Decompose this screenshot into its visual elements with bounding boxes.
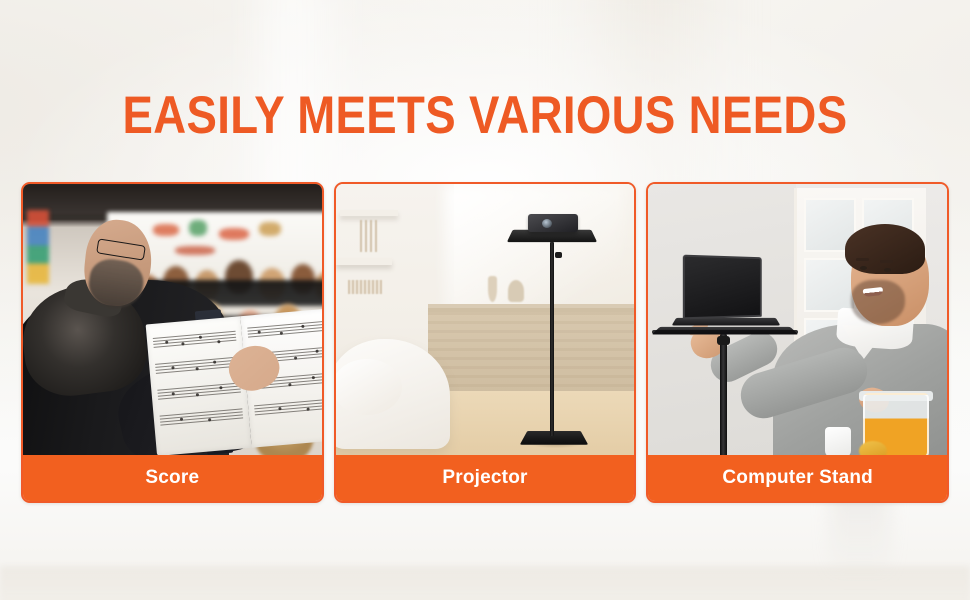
feature-card-list: Score [21, 182, 949, 503]
projector-scene [336, 184, 635, 455]
wall-shelf-upper [340, 210, 398, 216]
wall-shelf-lower [336, 258, 392, 265]
counter-object [508, 280, 524, 302]
computer-stand-scene [648, 184, 947, 455]
door-pane [804, 258, 856, 312]
stand-pole [550, 242, 554, 436]
stand-pole [720, 334, 727, 455]
counter-vase [488, 276, 497, 302]
whiteboard-mark-3 [219, 228, 249, 240]
man-eye [884, 268, 891, 272]
stand-adjust-knob [555, 252, 562, 258]
laptop-screen [683, 255, 762, 320]
whiteboard-mark-4 [259, 222, 281, 236]
card-caption-computer-stand: Computer Stand [648, 455, 947, 501]
man-eye [860, 266, 867, 270]
promo-banner: EASILY MEETS VARIOUS NEEDS [0, 0, 970, 600]
whiteboard-mark-2 [189, 220, 207, 236]
stand-adjust-knob [717, 336, 730, 345]
wall-frame [348, 280, 382, 294]
feature-card-projector[interactable]: Projector [334, 182, 637, 503]
page-title: EASILY MEETS VARIOUS NEEDS [68, 89, 902, 142]
whiteboard-mark-1 [153, 224, 179, 236]
computer-stand-photo [648, 184, 947, 455]
projector-device [528, 214, 578, 232]
white-pitcher [825, 427, 851, 455]
projector-lens [542, 219, 552, 228]
score-photo [23, 184, 322, 455]
projector-photo [336, 184, 635, 455]
sofa-armrest [336, 359, 402, 415]
card-caption-projector: Projector [336, 455, 635, 501]
wall-color-strip [27, 210, 49, 284]
score-scene [23, 184, 322, 455]
stand-tray-edge [652, 330, 798, 334]
stand-base-plate [519, 431, 587, 445]
orange-fruit [859, 441, 887, 455]
man-eyebrow [856, 258, 869, 261]
feature-card-score[interactable]: Score [21, 182, 324, 503]
feature-card-computer-stand[interactable]: Computer Stand [646, 182, 949, 503]
card-caption-score: Score [23, 455, 322, 501]
shelf-decoration [360, 220, 378, 252]
ceiling-band [23, 184, 322, 214]
man-eyebrow [880, 260, 893, 263]
man-hair [845, 224, 925, 274]
